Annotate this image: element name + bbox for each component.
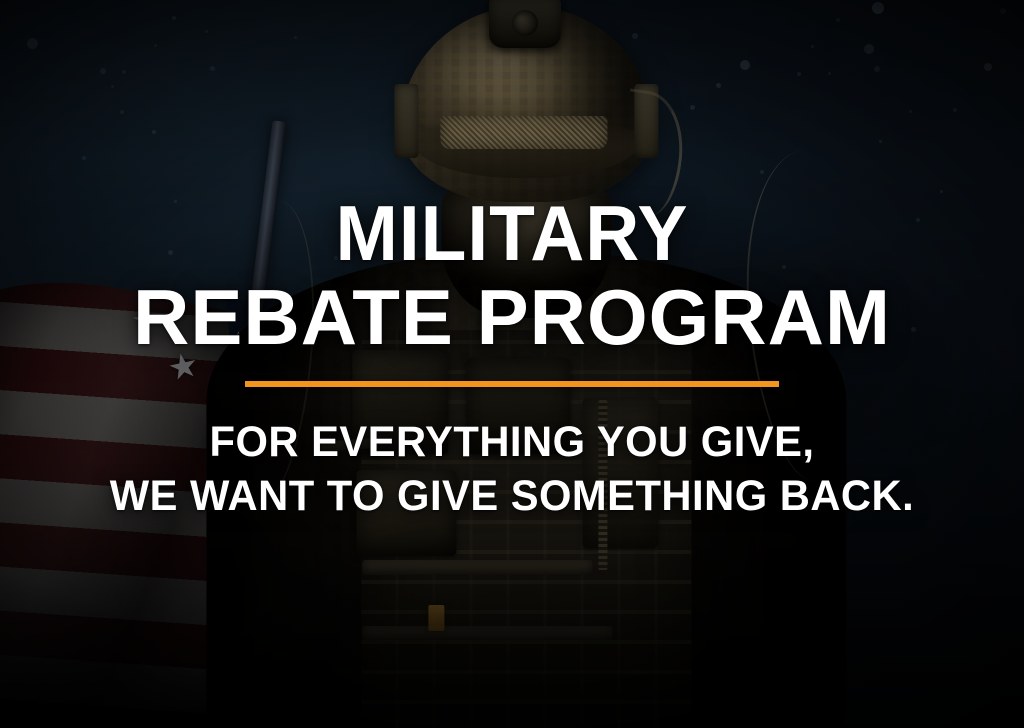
vest-strap	[362, 626, 612, 640]
soldier-figure	[166, 0, 886, 728]
military-rebate-banner: ★ ★ ★ ★ ★ ★	[0, 0, 1024, 728]
vest-zipper	[598, 400, 607, 570]
vest-pouch	[356, 470, 456, 556]
vest-pouch	[466, 358, 570, 454]
vest-strap	[362, 560, 592, 575]
vest-pouch	[582, 398, 658, 548]
nvg-mount	[489, 0, 561, 48]
flag-star-icon: ★	[130, 307, 155, 334]
orange-pull-tab	[428, 605, 444, 631]
nvg-knob	[512, 10, 538, 36]
helmet-side-rail-left	[394, 84, 418, 158]
helmet-velcro-patch	[441, 116, 607, 149]
tactical-helmet	[400, 6, 652, 202]
